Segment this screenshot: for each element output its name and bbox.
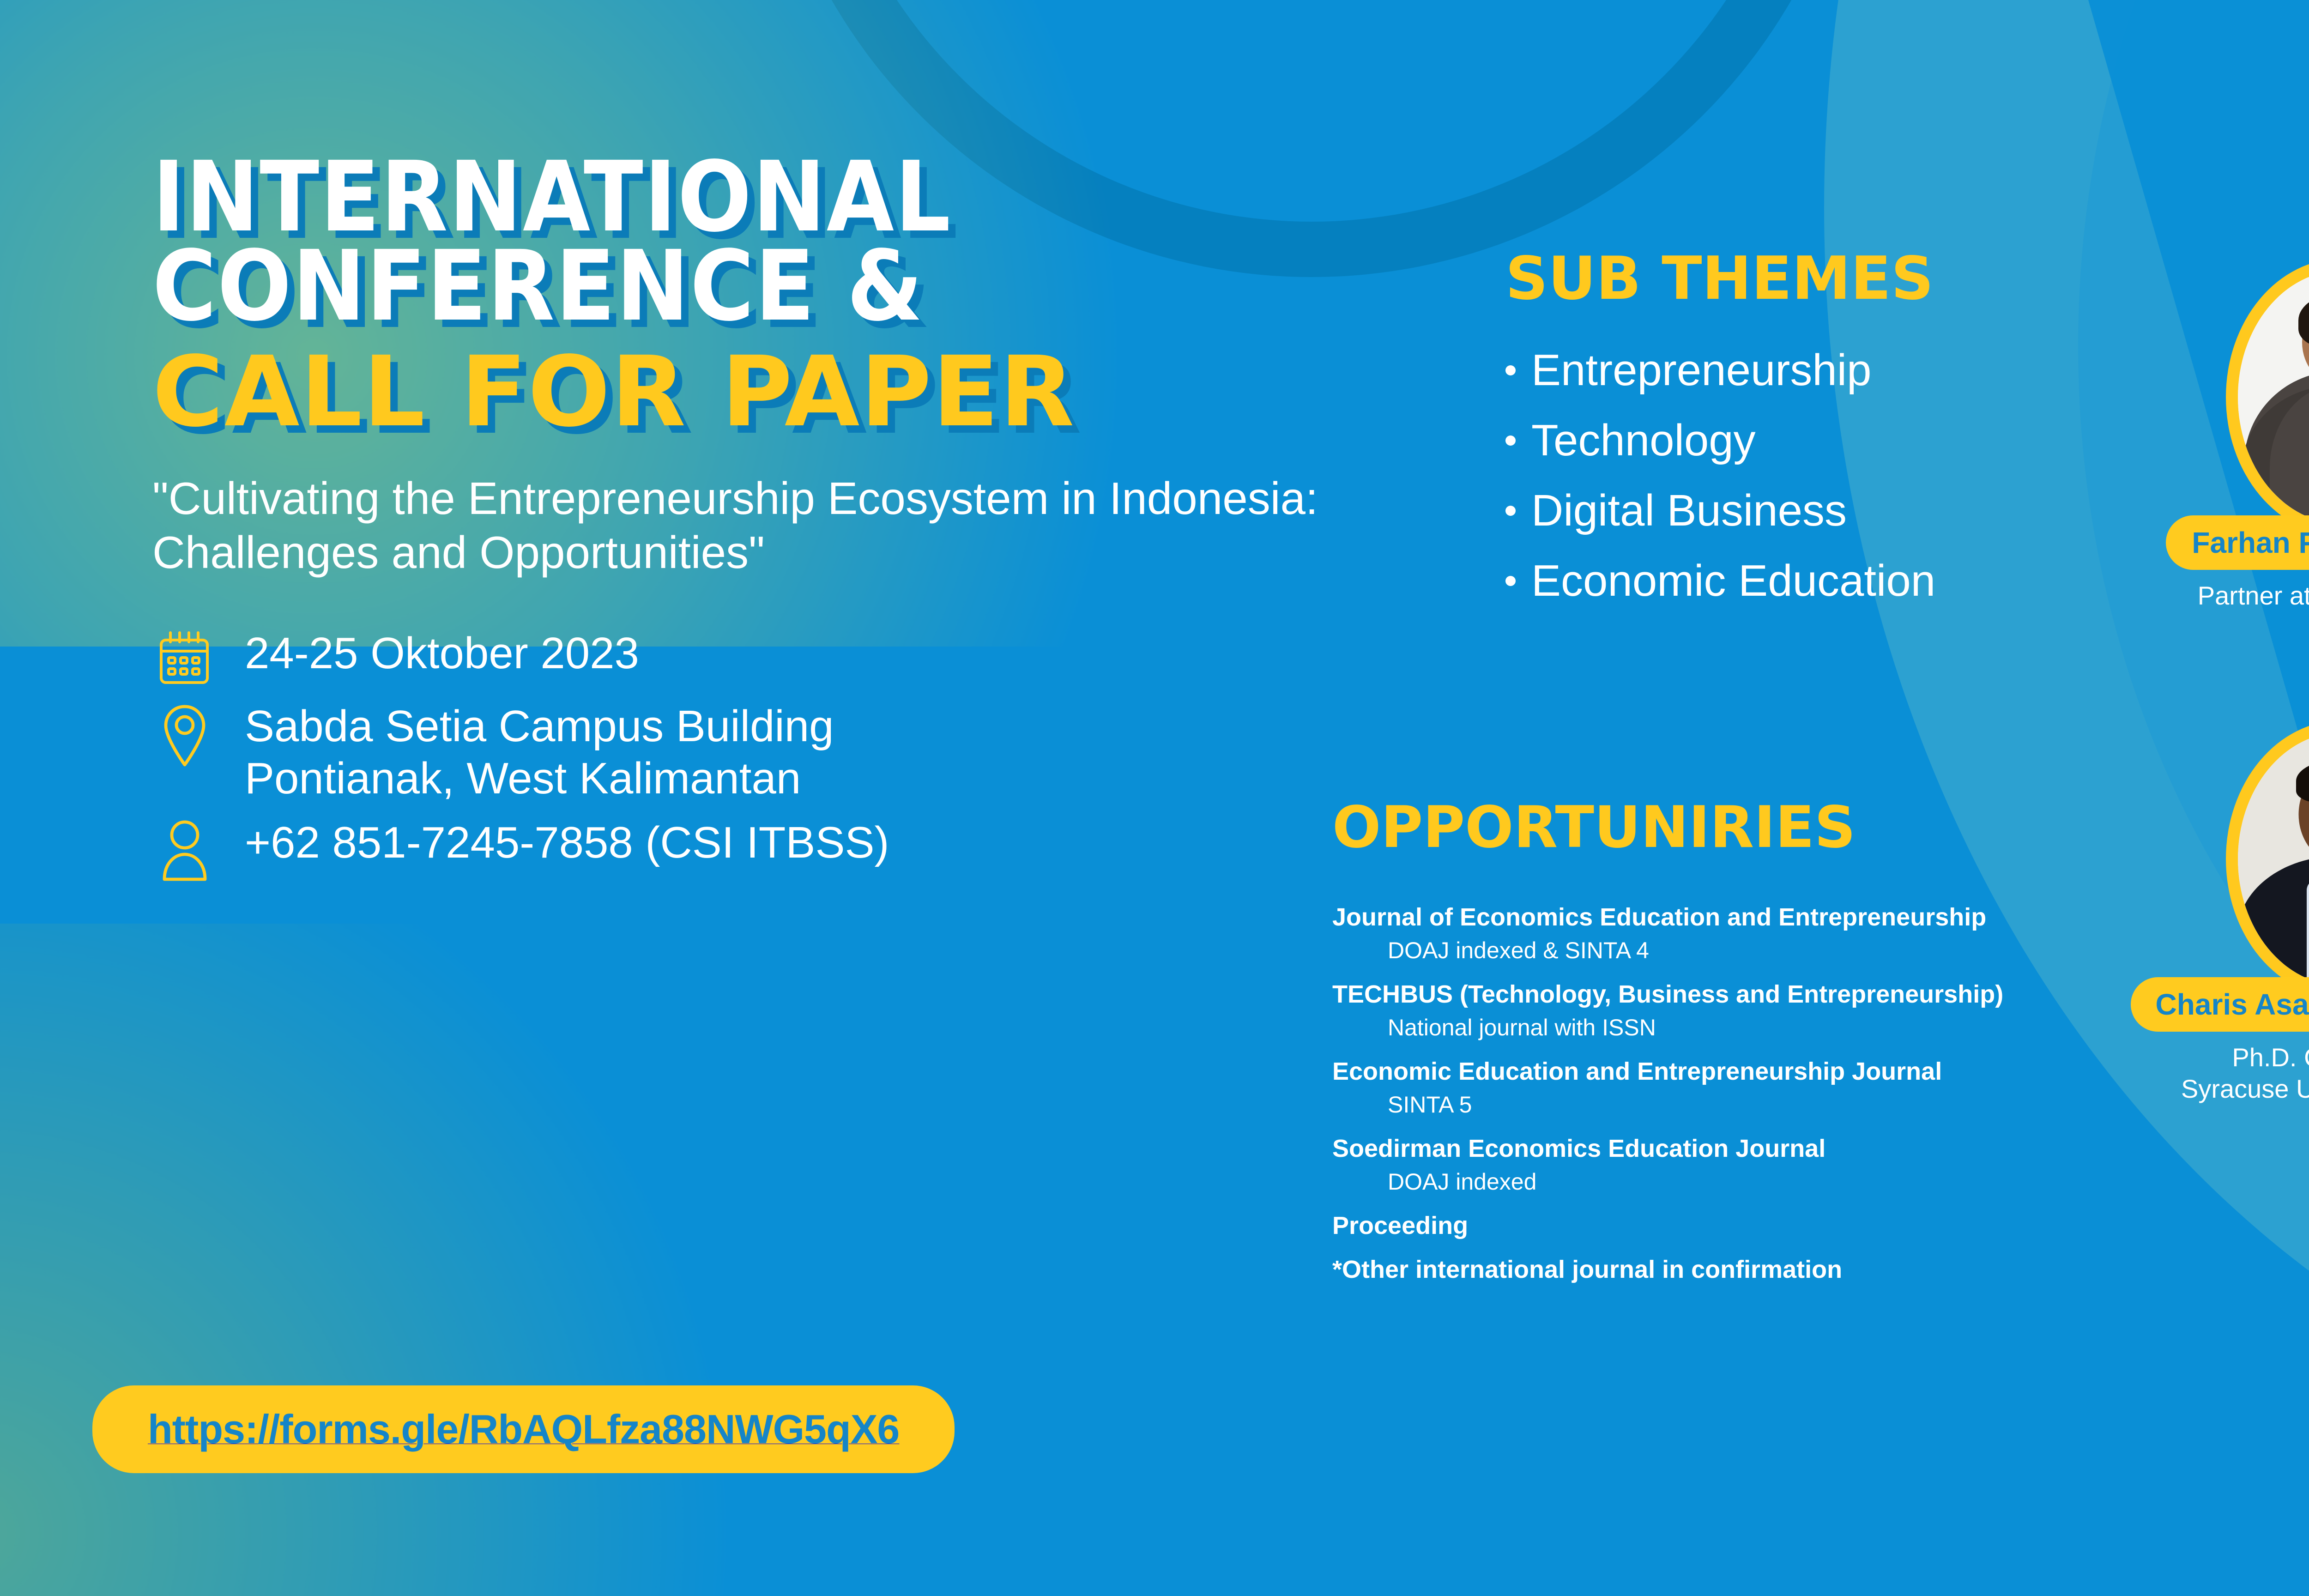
info-row-contact: +62 851-7245-7858 (CSI ITBSS) xyxy=(152,814,1422,883)
bullet-dot-icon xyxy=(1505,506,1516,516)
speaker-organization: Partner at Meet Ventures xyxy=(2198,580,2309,611)
speaker-name: Charis Asante-Agyei Ph.D. xyxy=(2156,988,2309,1021)
green-glow-bottom-left xyxy=(0,924,970,1596)
opportunity-index: DOAJ indexed xyxy=(1388,1167,2127,1197)
sub-theme-item: Technology xyxy=(1505,418,2175,463)
sub-theme-item: Economic Education xyxy=(1505,559,2175,603)
opportunity-entry: Economic Education and Entrepreneurship … xyxy=(1332,1057,2127,1120)
sub-theme-label: Technology xyxy=(1531,418,1756,463)
conference-tagline: "Cultivating the Entrepreneurship Ecosys… xyxy=(152,472,1362,580)
opportunity-entry: Journal of Economics Education and Entre… xyxy=(1332,902,2127,966)
bullet-dot-icon xyxy=(1505,576,1516,586)
opportunity-name: Journal of Economics Education and Entre… xyxy=(1332,902,2127,933)
person-icon xyxy=(152,814,217,883)
title-accent-line: CALL FOR PAPER xyxy=(152,343,1422,441)
opportunity-name: TECHBUS (Technology, Business and Entrep… xyxy=(1332,979,2127,1010)
bullet-dot-icon xyxy=(1505,365,1516,375)
opportunity-name: Economic Education and Entrepreneurship … xyxy=(1332,1057,2127,1087)
page-title: INTERNATIONAL CONFERENCE & xyxy=(152,152,1422,331)
opportunity-name: Soedirman Economics Education Journal xyxy=(1332,1134,2127,1164)
sub-theme-label: Economic Education xyxy=(1531,559,1935,603)
event-info-list: 24-25 Oktober 2023 Sabda Setia Campus Bu… xyxy=(152,624,1422,883)
sub-themes-heading: SUB THEMES xyxy=(1505,249,2175,308)
sub-theme-label: Entrepreneurship xyxy=(1531,348,1871,393)
opportunities-heading: OPPORTUNIRIES xyxy=(1332,799,2127,856)
opportunity-index: National journal with ISSN xyxy=(1388,1013,2127,1043)
opportunities-note: *Other international journal in confirma… xyxy=(1332,1255,2127,1285)
sub-theme-item: Digital Business xyxy=(1505,489,2175,533)
event-date: 24-25 Oktober 2023 xyxy=(245,624,639,679)
left-content-column: INTERNATIONAL CONFERENCE & CALL FOR PAPE… xyxy=(152,152,1422,883)
opportunity-index: DOAJ indexed & SINTA 4 xyxy=(1388,936,2127,966)
opportunities-list: Journal of Economics Education and Entre… xyxy=(1332,902,2127,1285)
info-row-location: Sabda Setia Campus Building Pontianak, W… xyxy=(152,697,1422,805)
speaker-organization: Ph.D. Candidate at Syracuse University i… xyxy=(2181,1042,2309,1105)
opportunity-entry: TECHBUS (Technology, Business and Entrep… xyxy=(1332,979,2127,1043)
opportunities-section: OPPORTUNIRIES Journal of Economics Educa… xyxy=(1332,799,2127,1285)
speaker-photo-farhan-firdaus xyxy=(2226,259,2309,536)
registration-link-text: https://forms.gle/RbAQLfza88NWG5qX6 xyxy=(148,1406,899,1452)
event-contact-phone: +62 851-7245-7858 (CSI ITBSS) xyxy=(245,814,889,869)
speaker-photo-charis-asante-agyei xyxy=(2226,720,2309,997)
sub-themes-list: Entrepreneurship Technology Digital Busi… xyxy=(1505,348,2175,603)
speaker-card: Farhan Firdaus, M.Sc Partner at Meet Ven… xyxy=(2097,259,2309,611)
calendar-icon xyxy=(152,624,217,688)
speaker-name: Farhan Firdaus, M.Sc xyxy=(2192,526,2309,559)
sub-theme-label: Digital Business xyxy=(1531,489,1847,533)
speaker-name-pill: Farhan Firdaus, M.Sc xyxy=(2166,515,2309,570)
conference-poster: UNIVERSITAS LAMBUNG MANGKURAT INSTITUT T… xyxy=(0,0,2309,1596)
registration-link-button[interactable]: https://forms.gle/RbAQLfza88NWG5qX6 xyxy=(92,1385,955,1473)
sub-themes-section: SUB THEMES Entrepreneurship Technology D… xyxy=(1505,249,2175,603)
opportunity-name: Proceeding xyxy=(1332,1211,2127,1241)
location-pin-icon xyxy=(152,697,217,771)
opportunity-entry: Soedirman Economics Education Journal DO… xyxy=(1332,1134,2127,1197)
speakers-section: Farhan Firdaus, M.Sc Partner at Meet Ven… xyxy=(2097,259,2309,1596)
opportunity-entry: Proceeding xyxy=(1332,1211,2127,1241)
opportunity-index: SINTA 5 xyxy=(1388,1090,2127,1120)
sub-theme-item: Entrepreneurship xyxy=(1505,348,2175,393)
speaker-name-pill: Charis Asante-Agyei Ph.D. xyxy=(2131,977,2309,1032)
event-location: Sabda Setia Campus Building Pontianak, W… xyxy=(245,697,834,805)
bullet-dot-icon xyxy=(1505,435,1516,446)
info-row-date: 24-25 Oktober 2023 xyxy=(152,624,1422,688)
speaker-card: Charis Asante-Agyei Ph.D. Ph.D. Candidat… xyxy=(2097,720,2309,1105)
title-line-2: CONFERENCE & xyxy=(152,242,1422,331)
